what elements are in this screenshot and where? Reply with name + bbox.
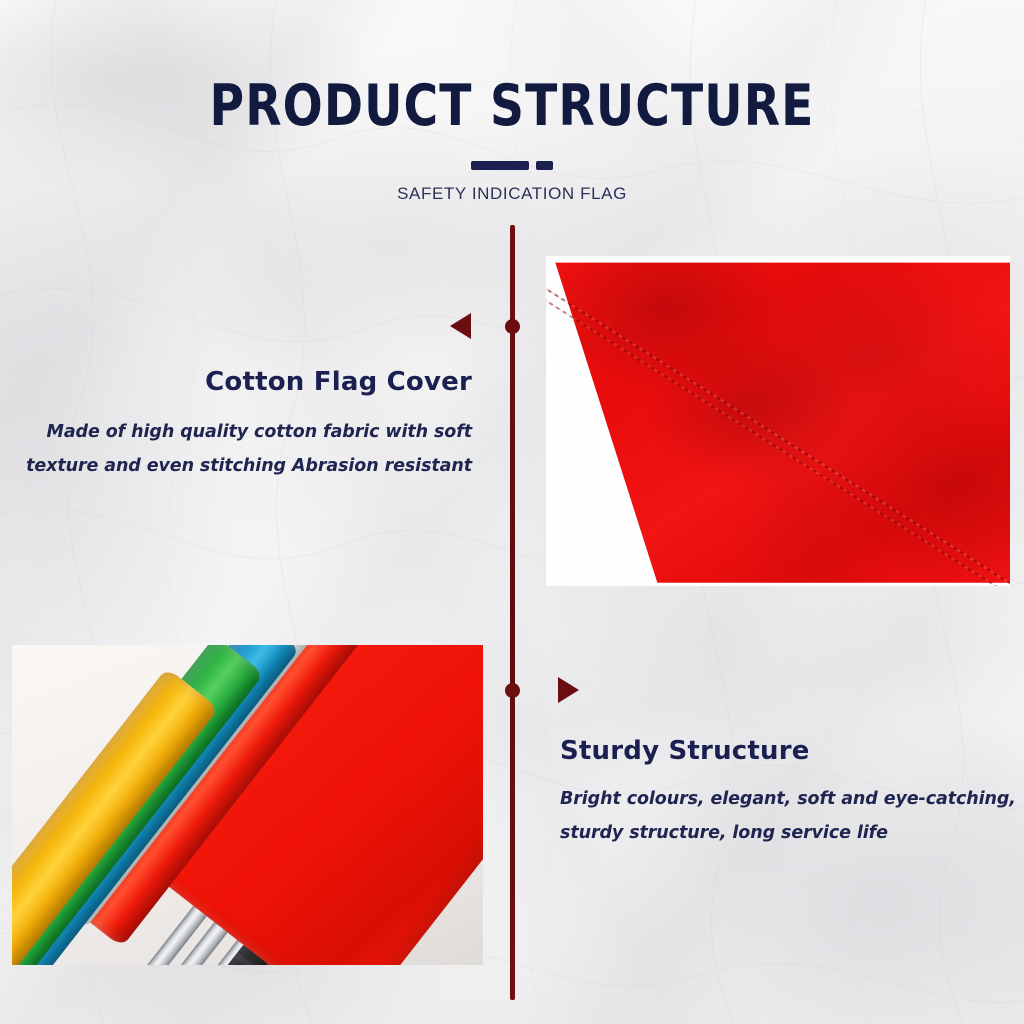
flag-set-photo-inner: forever200 [12,645,483,965]
feature-title-cotton-flag-cover: Cotton Flag Cover [0,368,472,397]
feature-desc-line-2: texture and even stitching Abrasion resi… [26,456,472,476]
double-dash-divider-icon [452,161,572,170]
feature-desc-line-1: Made of high quality cotton fabric with … [47,422,472,442]
timeline-node-dot-top [505,319,520,334]
feature-block-cotton-flag-cover: Cotton Flag Cover Made of high quality c… [0,368,472,483]
red-flag-corner-photo-inner: forever200 [546,256,1010,586]
timeline-vertical-line [510,225,515,1000]
feature-desc-line-1: Bright colours, elegant, soft and eye-ca… [560,789,1016,809]
feature-block-sturdy-structure: Sturdy Structure Bright colours, elegant… [560,737,1024,850]
triangle-right-icon [558,677,579,703]
feature-description-cotton-flag-cover: Made of high quality cotton fabric with … [0,415,472,483]
page-title: PRODUCT STRUCTURE [41,0,983,135]
divider-bar-long [471,161,529,170]
page-subtitle: SAFETY INDICATION FLAG [0,184,1024,204]
feature-desc-line-2: sturdy structure, long service life [560,823,888,843]
triangle-left-icon [450,313,471,339]
timeline-node-dot-bottom [505,683,520,698]
feature-description-sturdy-structure: Bright colours, elegant, soft and eye-ca… [560,782,1024,850]
divider-bar-short [536,161,553,170]
flag-set-photo: forever200 [12,645,483,965]
infographic-page: PRODUCT STRUCTURE SAFETY INDICATION FLAG… [0,0,1024,1024]
red-flag-corner-photo: forever200 [546,256,1010,586]
feature-title-sturdy-structure: Sturdy Structure [560,737,1024,766]
header: PRODUCT STRUCTURE SAFETY INDICATION FLAG [0,0,1024,204]
